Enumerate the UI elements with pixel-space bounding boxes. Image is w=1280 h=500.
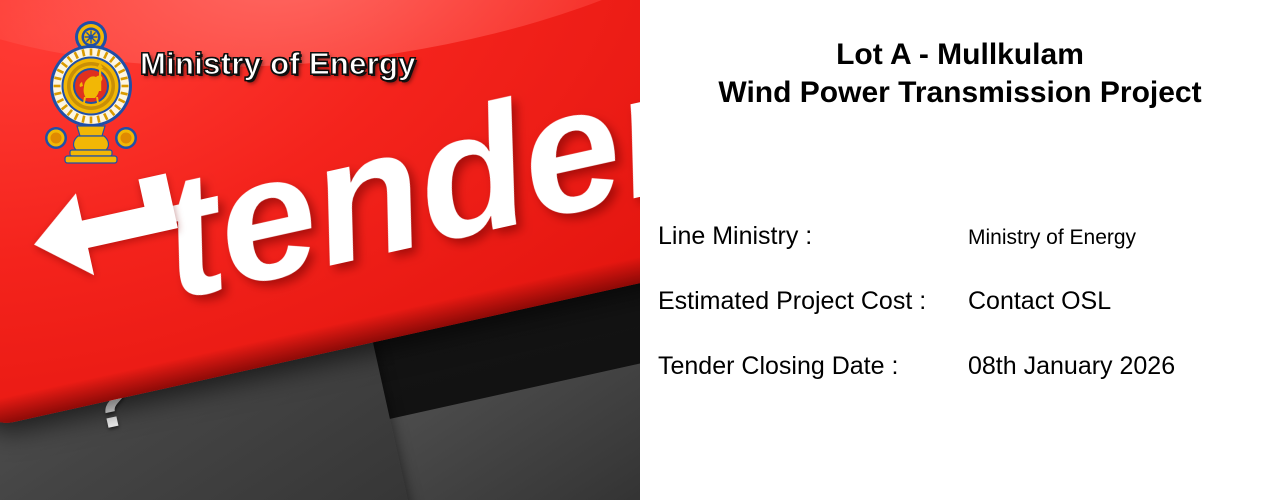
detail-row-estimated-cost: Estimated Project Cost : Contact OSL [658, 287, 1280, 352]
sri-lanka-national-emblem-icon [40, 20, 142, 164]
tender-notice-card: ? tender [0, 0, 1280, 500]
page-title: Lot A - Mullkulam Wind Power Transmissio… [640, 36, 1280, 113]
title-line-1: Lot A - Mullkulam [640, 36, 1280, 74]
closing-date-value: 08th January 2026 [968, 352, 1175, 381]
estimated-cost-label: Estimated Project Cost : [658, 287, 968, 316]
detail-row-line-ministry: Line Ministry : Ministry of Energy [658, 222, 1280, 287]
title-line-2: Wind Power Transmission Project [640, 74, 1280, 112]
ministry-overlay-text: Ministry of Energy [140, 46, 416, 82]
tender-key-photo: ? tender [0, 0, 640, 500]
tender-details-panel: Lot A - Mullkulam Wind Power Transmissio… [640, 0, 1280, 500]
line-ministry-label: Line Ministry : [658, 222, 968, 251]
estimated-cost-value: Contact OSL [968, 287, 1111, 316]
line-ministry-value: Ministry of Energy [968, 226, 1136, 250]
detail-rows: Line Ministry : Ministry of Energy Estim… [658, 222, 1280, 417]
closing-date-label: Tender Closing Date : [658, 352, 968, 381]
detail-row-closing-date: Tender Closing Date : 08th January 2026 [658, 352, 1280, 417]
